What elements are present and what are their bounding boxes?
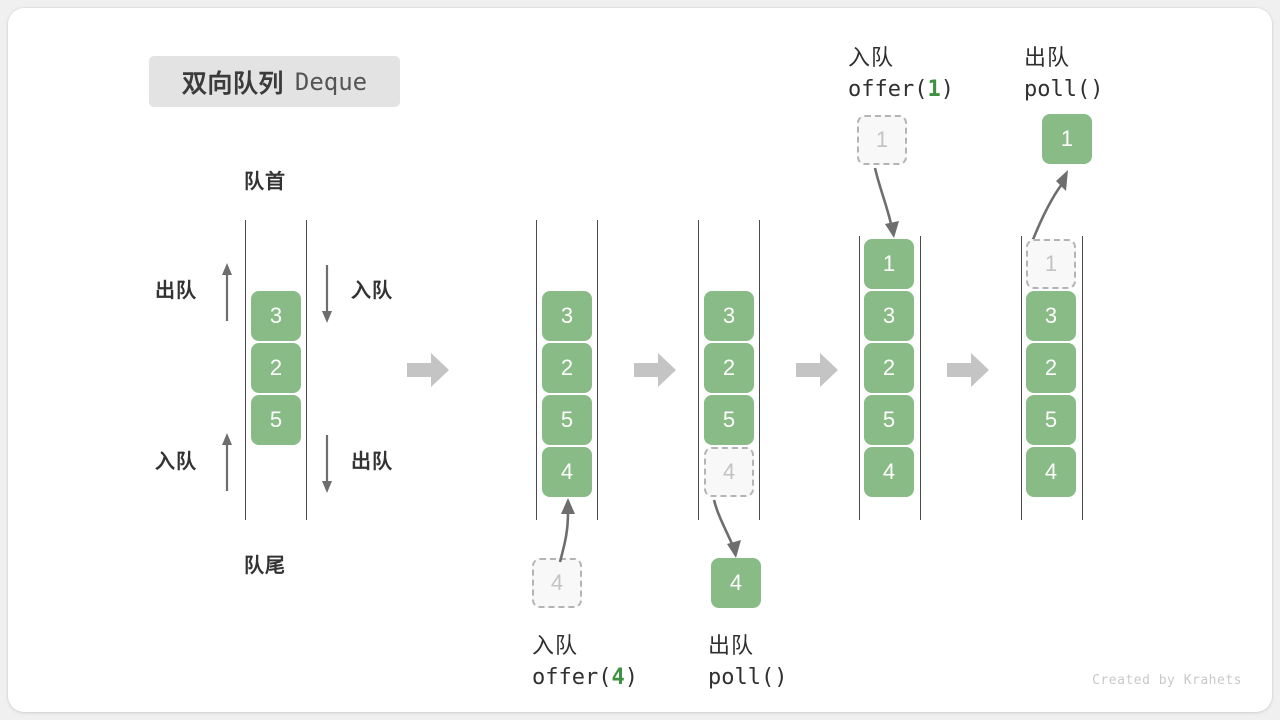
cell: 5: [864, 395, 914, 445]
ejected-cell: 1: [1042, 114, 1092, 164]
step-arrow-icon: [947, 353, 989, 387]
title-english: Deque: [295, 68, 367, 96]
motion-arrow-enqueue-1: [853, 166, 923, 246]
rail-left-panel2: [536, 220, 537, 520]
caption-chinese: 入队: [848, 40, 894, 72]
cell: 5: [251, 395, 301, 445]
code-prefix: offer(: [532, 665, 611, 690]
code-prefix: poll(: [1024, 77, 1090, 102]
label-enqueue-head: 入队: [351, 274, 393, 303]
rail-left-panel1: [245, 220, 246, 520]
code-suffix: ): [941, 77, 954, 102]
step-arrow-icon: [796, 353, 838, 387]
code-suffix: ): [625, 665, 638, 690]
label-queue-tail: 队尾: [244, 549, 286, 578]
caption-chinese: 入队: [532, 628, 578, 660]
cell: 3: [864, 291, 914, 341]
diagram-canvas: 双向队列 Deque 队首 队尾 出队 入队: [0, 0, 1280, 720]
motion-arrow-dequeue-1: [1018, 166, 1088, 246]
caption-code: offer(4): [532, 665, 638, 690]
title-chinese: 双向队列: [182, 64, 284, 100]
cell: 2: [542, 343, 592, 393]
code-prefix: poll(: [708, 665, 774, 690]
rail-right-panel3: [759, 220, 760, 520]
ghost-cell: 1: [1026, 239, 1076, 289]
motion-arrow-enqueue-4: [528, 488, 598, 568]
label-dequeue-tail: 出队: [351, 445, 393, 474]
cell: 2: [1026, 343, 1076, 393]
arrow-down-tail: [318, 433, 336, 493]
cell: 2: [251, 343, 301, 393]
ejected-cell: 4: [711, 558, 761, 608]
cell: 3: [251, 291, 301, 341]
code-prefix: offer(: [848, 77, 927, 102]
rail-right-panel1: [306, 220, 307, 520]
arrow-up-tail: [218, 433, 236, 493]
cell: 3: [542, 291, 592, 341]
ghost-cell: 4: [704, 447, 754, 497]
caption-code: poll(): [1024, 77, 1103, 102]
caption-chinese: 出队: [708, 628, 754, 660]
cell: 5: [542, 395, 592, 445]
rail-right-panel5: [1082, 236, 1083, 520]
rail-left-panel3: [698, 220, 699, 520]
arrow-up-head: [218, 263, 236, 323]
caption-chinese: 出队: [1024, 40, 1070, 72]
diagram-card: 双向队列 Deque 队首 队尾 出队 入队: [8, 8, 1272, 712]
code-argument: 4: [611, 665, 624, 690]
cell: 1: [864, 239, 914, 289]
cell: 2: [864, 343, 914, 393]
rail-left-panel4: [859, 236, 860, 520]
label-queue-head: 队首: [244, 165, 286, 194]
arrow-down-head: [318, 263, 336, 323]
label-dequeue-head: 出队: [155, 274, 197, 303]
cell: 2: [704, 343, 754, 393]
cell: 5: [1026, 395, 1076, 445]
caption-code: offer(1): [848, 77, 954, 102]
rail-right-panel2: [597, 220, 598, 520]
ghost-cell: 1: [857, 115, 907, 165]
step-arrow-icon: [634, 353, 676, 387]
cell: 5: [704, 395, 754, 445]
cell: 3: [1026, 291, 1076, 341]
code-suffix: ): [1090, 77, 1103, 102]
step-arrow-icon: [407, 353, 449, 387]
code-suffix: ): [774, 665, 787, 690]
cell: 3: [704, 291, 754, 341]
label-enqueue-tail: 入队: [155, 445, 197, 474]
caption-code: poll(): [708, 665, 787, 690]
rail-left-panel5: [1021, 236, 1022, 520]
credit-text: Created by Krahets: [1092, 673, 1242, 688]
title-badge: 双向队列 Deque: [149, 56, 400, 107]
cell: 4: [864, 447, 914, 497]
rail-right-panel4: [920, 236, 921, 520]
code-argument: 1: [927, 77, 940, 102]
cell: 4: [1026, 447, 1076, 497]
